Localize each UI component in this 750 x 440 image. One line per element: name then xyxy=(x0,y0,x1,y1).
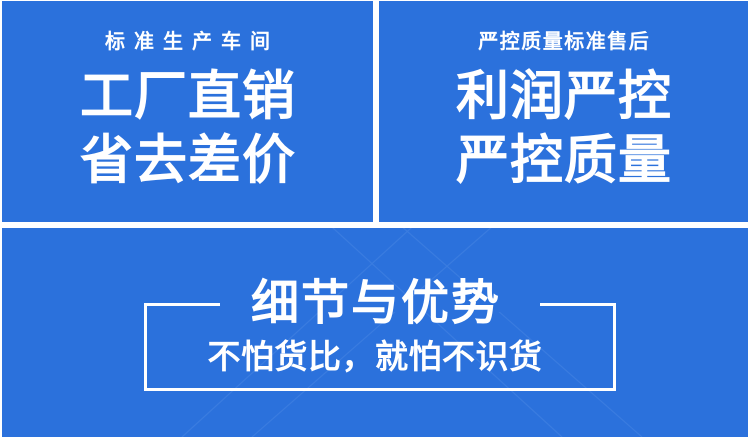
panel-left-headline-line2: 省去差价 xyxy=(79,130,296,191)
panel-details-advantages: 细节与优势 不怕货比，就怕不识货 xyxy=(2,228,748,437)
panel-factory-direct: 标准生产车间 工厂直销 省去差价 xyxy=(2,1,373,222)
panel-bottom-title: 细节与优势 xyxy=(2,280,748,328)
panel-bottom-subtitle: 不怕货比，就怕不识货 xyxy=(2,340,748,373)
panel-left-headline-line1: 工厂直销 xyxy=(79,66,296,127)
panel-left-eyebrow: 标准生产车间 xyxy=(96,32,279,52)
panel-right-headline-line2: 严控质量 xyxy=(455,130,672,191)
panel-bottom-content: 细节与优势 不怕货比，就怕不识货 xyxy=(2,228,748,437)
panel-quality-control-content: 严控质量标准售后 利润严控 严控质量 xyxy=(379,1,748,222)
panel-quality-control: 严控质量标准售后 利润严控 严控质量 xyxy=(379,1,748,222)
panel-right-eyebrow: 严控质量标准售后 xyxy=(477,32,651,52)
promo-banner: 标准生产车间 工厂直销 省去差价 严控质量标准售后 利润严控 严控质量 细节与优… xyxy=(0,0,750,440)
panel-right-headline-line1: 利润严控 xyxy=(455,66,672,127)
panel-factory-direct-content: 标准生产车间 工厂直销 省去差价 xyxy=(2,1,373,222)
